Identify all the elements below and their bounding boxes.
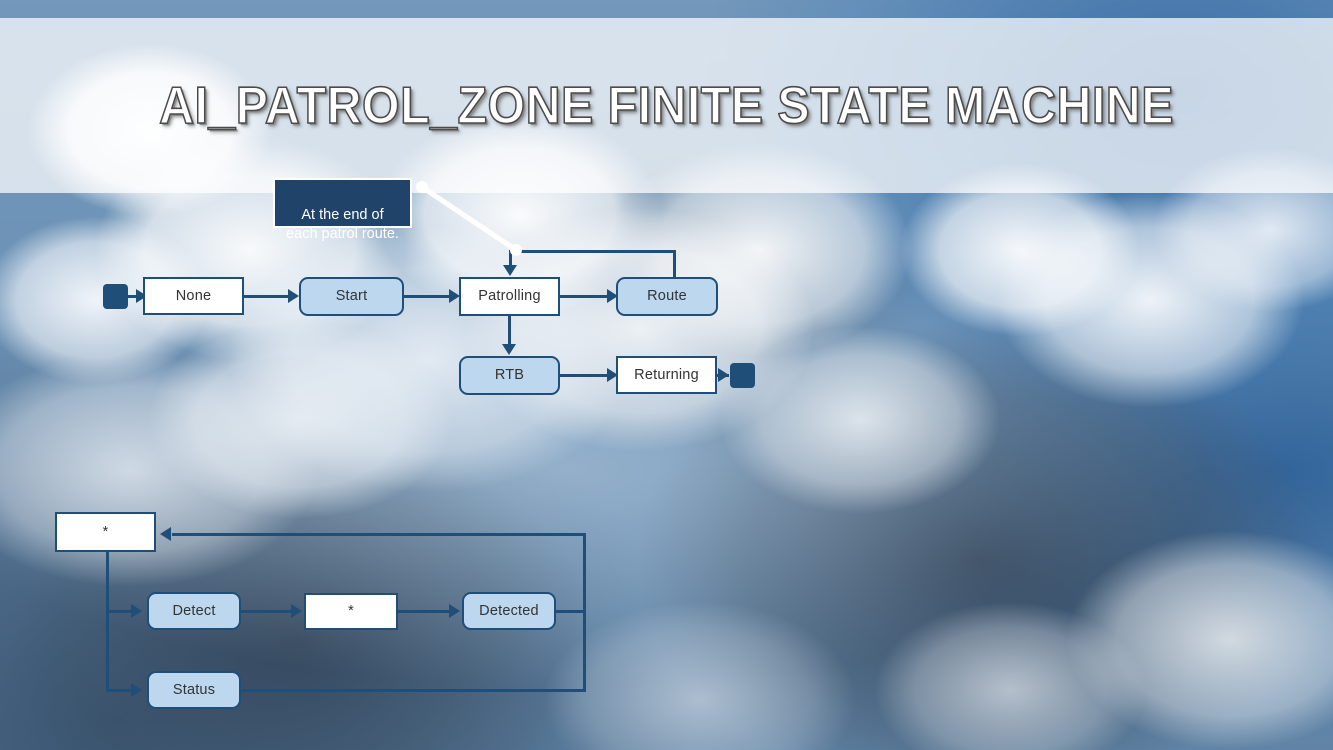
node-detected-label: Detected	[479, 603, 539, 620]
connector-start-patrolling	[404, 295, 454, 298]
connector-rtb-returning	[560, 374, 612, 377]
node-returning-label: Returning	[634, 367, 699, 384]
callout-text: At the end of each patrol route.	[286, 207, 399, 243]
arrowhead-anytarget-detected	[449, 604, 460, 618]
node-route-label: Route	[647, 288, 687, 305]
arrowhead-patrolling-rtb	[502, 344, 516, 355]
connector-patrolling-route	[560, 295, 612, 298]
slide-canvas: AI_PATROL_ZONE FINITE STATE MACHINE None…	[0, 0, 1333, 750]
arrowhead-returning-endmarker	[718, 368, 729, 382]
node-any-source[interactable]: *	[55, 512, 156, 552]
node-patrolling-label: Patrolling	[478, 288, 540, 305]
arrowhead-anysource-status	[131, 683, 142, 697]
connector-right-rail	[583, 533, 586, 691]
node-detect-label: Detect	[172, 603, 215, 620]
node-rtb-label: RTB	[495, 367, 524, 384]
node-rtb[interactable]: RTB	[459, 356, 560, 395]
node-status-label: Status	[173, 682, 215, 699]
connector-anytarget-detected	[398, 610, 454, 613]
node-detect[interactable]: Detect	[147, 592, 241, 630]
start-state-marker	[103, 284, 128, 309]
arrowhead-anysource-detect	[131, 604, 142, 618]
connector-rail-anysource	[172, 533, 586, 536]
connector-detected-rail	[556, 610, 586, 613]
arrowhead-detect-anytarget	[291, 604, 302, 618]
page-title: AI_PATROL_ZONE FINITE STATE MACHINE	[47, 76, 1287, 136]
node-route[interactable]: Route	[616, 277, 718, 316]
node-detected[interactable]: Detected	[462, 592, 556, 630]
node-start-label: Start	[336, 288, 368, 305]
node-none[interactable]: None	[143, 277, 244, 315]
connector-route-loop-up	[673, 250, 676, 278]
arrowhead-none-start	[288, 289, 299, 303]
node-start[interactable]: Start	[299, 277, 404, 316]
node-any-target[interactable]: *	[304, 593, 398, 630]
arrowhead-route-patrolling	[503, 265, 517, 276]
callout-patrol-route[interactable]: At the end of each patrol route.	[273, 178, 412, 228]
node-patrolling[interactable]: Patrolling	[459, 277, 560, 316]
node-any-source-label: *	[103, 524, 109, 541]
node-status[interactable]: Status	[147, 671, 241, 709]
node-none-label: None	[176, 288, 211, 305]
connector-detect-anytarget	[241, 610, 296, 613]
connector-route-loop-across	[509, 250, 676, 253]
connector-status-rail	[241, 689, 586, 692]
node-any-target-label: *	[348, 603, 354, 620]
connector-none-start	[244, 295, 292, 298]
connector-anysource-branch-stem	[106, 552, 109, 690]
node-returning[interactable]: Returning	[616, 356, 717, 394]
end-state-marker	[730, 363, 755, 388]
connector-patrolling-rtb	[508, 316, 511, 346]
arrowhead-rail-anysource	[160, 527, 171, 541]
